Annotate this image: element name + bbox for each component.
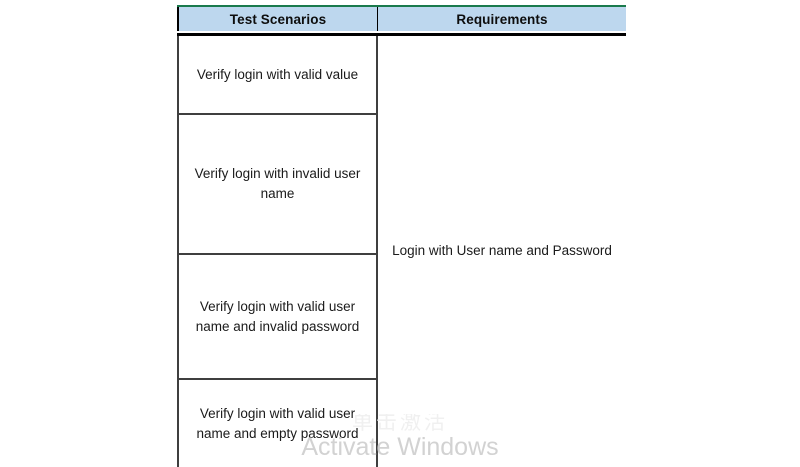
column-header-requirements[interactable]: Requirements bbox=[378, 7, 626, 31]
column-header-test-scenarios[interactable]: Test Scenarios bbox=[177, 7, 378, 31]
table-row[interactable]: Verify login with valid user name and em… bbox=[179, 380, 378, 467]
table-header-row: Test Scenarios Requirements bbox=[177, 7, 626, 31]
requirement-text: Login with User name and Password bbox=[392, 241, 612, 261]
table-row[interactable]: Verify login with valid user name and in… bbox=[179, 255, 378, 380]
table-body: Verify login with valid value Verify log… bbox=[177, 36, 626, 467]
requirements-merged-cell[interactable]: Login with User name and Password bbox=[378, 36, 626, 467]
table-grid: Test Scenarios Requirements Verify login… bbox=[177, 7, 626, 31]
table-row[interactable]: Verify login with invalid user name bbox=[179, 115, 378, 255]
test-scenarios-column: Verify login with valid value Verify log… bbox=[177, 36, 378, 467]
spreadsheet-canvas: Test Scenarios Requirements Verify login… bbox=[0, 0, 800, 460]
table-row[interactable]: Verify login with valid value bbox=[179, 36, 378, 115]
